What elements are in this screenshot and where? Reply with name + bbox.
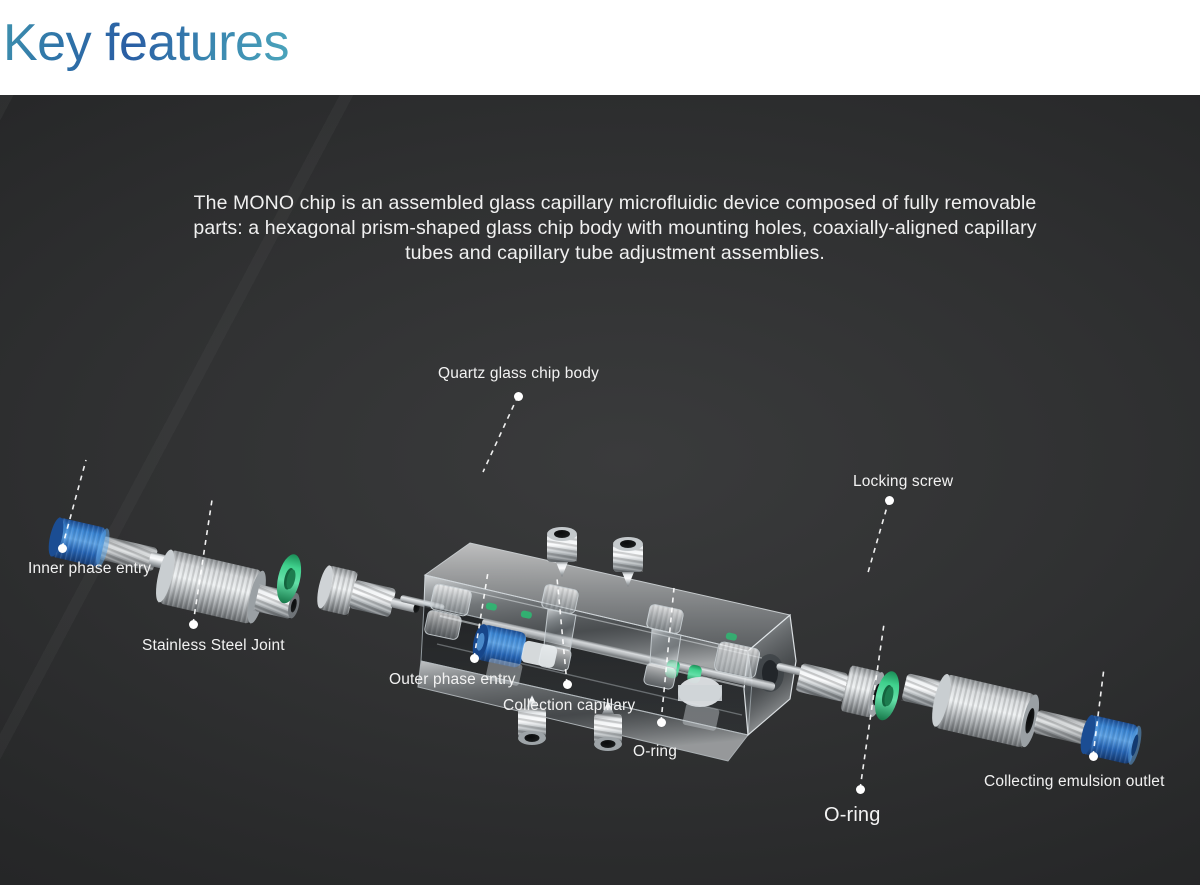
callout-dot-collection-capillary [563, 680, 572, 689]
callout-dot-quartz-glass-chip-body [514, 392, 523, 401]
callout-dot-inner-phase-entry [58, 544, 67, 553]
callout-label-oring-right: O-ring [824, 804, 880, 827]
callout-label-oring-center: O-ring [633, 743, 677, 761]
callout-label-quartz-glass-chip-body: Quartz glass chip body [438, 365, 599, 383]
callout-dot-oring-right [856, 785, 865, 794]
callout-label-collecting-emulsion-outlet: Collecting emulsion outlet [984, 773, 1165, 791]
key-features-page: Key features The MONO chip is an assembl… [0, 0, 1200, 885]
blue-cap-fitting-right [1031, 703, 1144, 766]
callout-dot-locking-screw [885, 496, 894, 505]
callout-label-outer-phase-entry: Outer phase entry [389, 671, 516, 689]
callout-dot-stainless-steel-joint [189, 620, 198, 629]
callout-label-locking-screw: Locking screw [853, 473, 953, 491]
internal-white-cylinder [678, 677, 722, 707]
quartz-glass-chip-body [400, 527, 796, 761]
page-header: Key features [0, 0, 1200, 95]
callout-label-stainless-steel-joint: Stainless Steel Joint [142, 637, 285, 655]
callout-dot-oring-center [657, 718, 666, 727]
diagram-stage: The MONO chip is an assembled glass capi… [0, 95, 1200, 885]
exploded-assembly-illustration [0, 95, 1200, 885]
callout-label-inner-phase-entry: Inner phase entry [28, 560, 151, 578]
page-title: Key features [3, 13, 289, 73]
callout-label-collection-capillary: Collection capillary [503, 697, 635, 715]
callout-dot-collecting-emulsion-outlet [1089, 752, 1098, 761]
right-assembly [776, 654, 1144, 766]
threaded-metal-nut-right [793, 654, 887, 719]
knurled-nut-grey-right [897, 665, 1043, 749]
callout-dot-outer-phase-entry [470, 654, 479, 663]
